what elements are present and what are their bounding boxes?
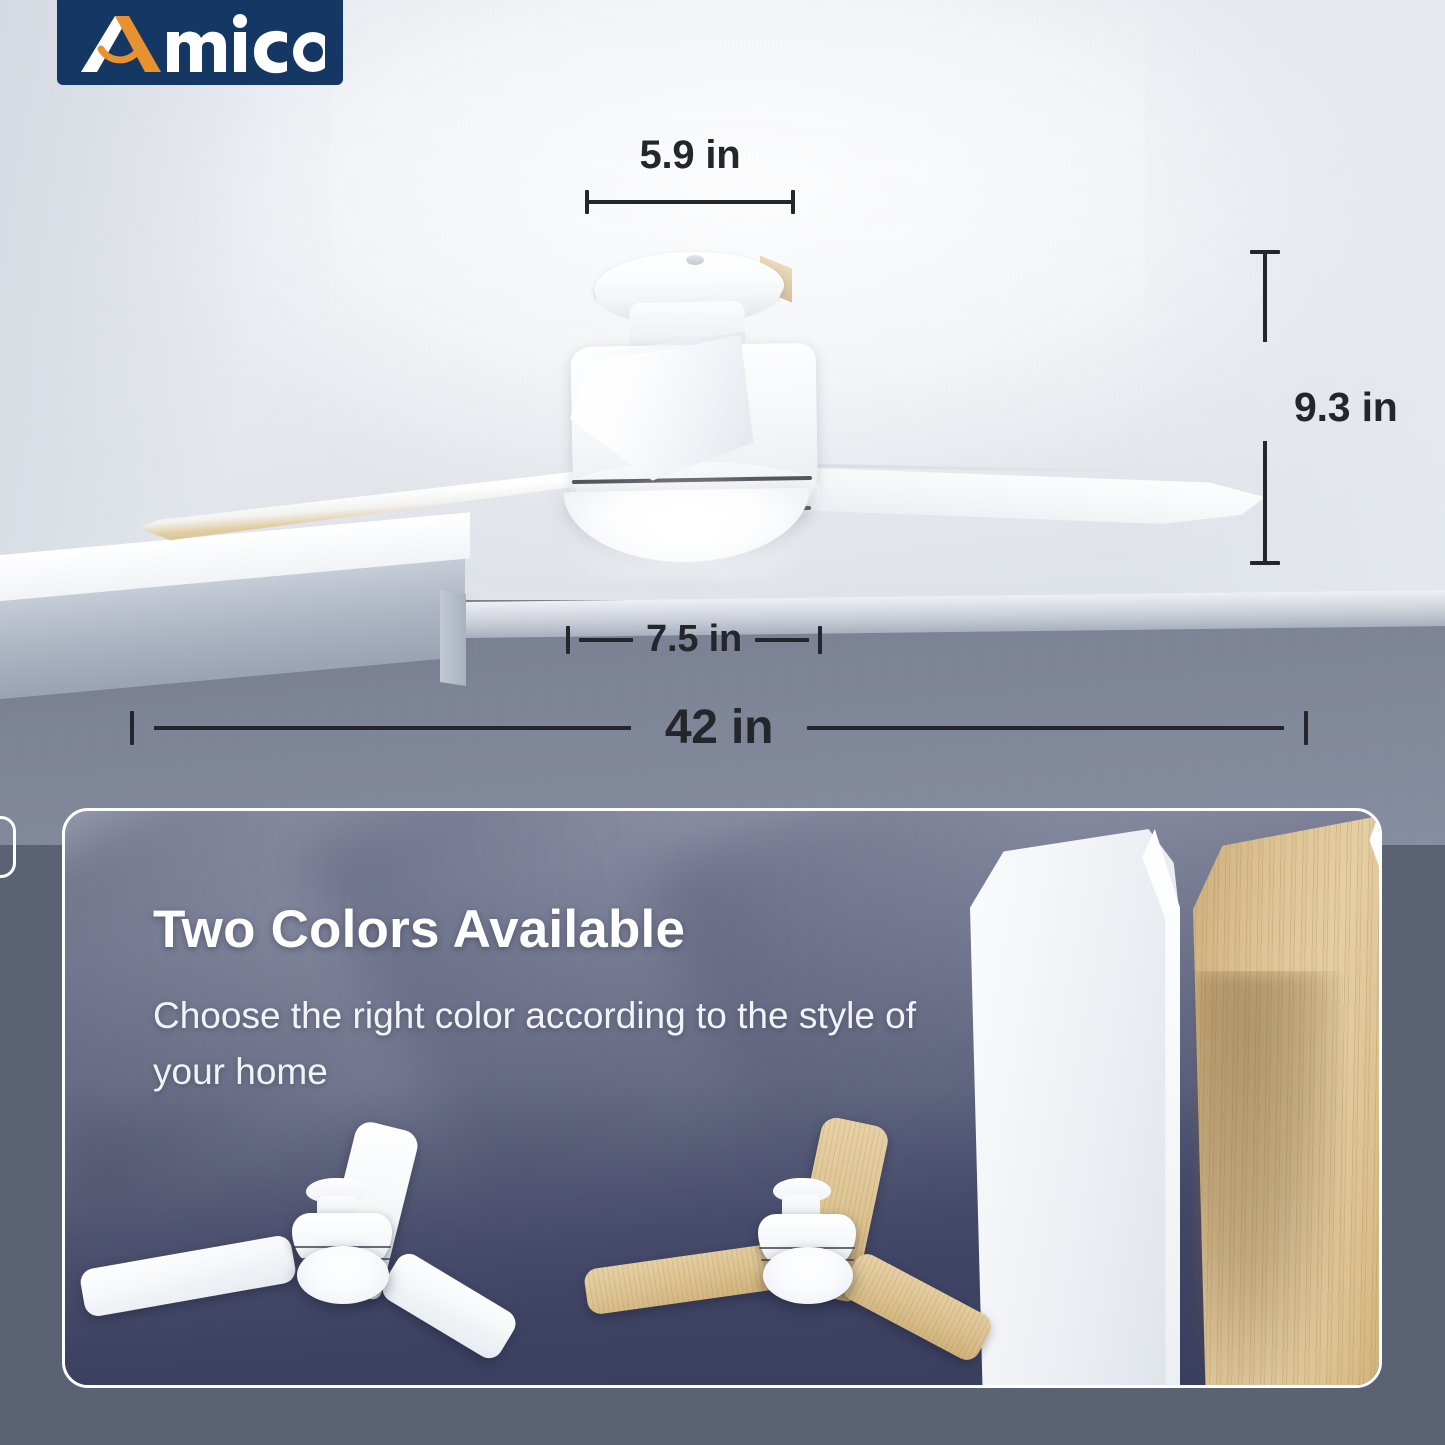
dimension-rule-left xyxy=(154,726,631,730)
dimension-tick-bottom xyxy=(1250,561,1280,565)
dimension-tick-right xyxy=(1304,711,1308,745)
fan-led-light xyxy=(297,1246,389,1304)
dimension-rule-lower xyxy=(1263,441,1267,561)
fan-blade xyxy=(377,1249,520,1364)
dimension-label-5-9: 5.9 in xyxy=(585,133,795,178)
dimension-blade-span: 42 in xyxy=(130,700,1308,755)
dimension-tick-left xyxy=(130,711,134,745)
panel-subheading: Choose the right color according to the … xyxy=(153,988,973,1100)
dimension-width-canopy: 5.9 in xyxy=(585,133,795,214)
dimension-line-9-3 xyxy=(1236,250,1294,565)
fan-blade xyxy=(838,1249,996,1365)
dimension-label-42: 42 in xyxy=(651,700,787,755)
dimension-rule-right xyxy=(807,726,1284,730)
dimension-line-5-9 xyxy=(585,190,795,214)
fan-light-glow xyxy=(560,470,816,580)
dimension-tick-right xyxy=(818,626,822,654)
fan-led-light xyxy=(763,1247,853,1304)
amico-logo-icon xyxy=(75,12,325,74)
wood-ceiling-fan xyxy=(645,1116,1045,1371)
dimension-height-total: 9.3 in xyxy=(1236,250,1426,565)
fan-blade-right xyxy=(800,450,1266,537)
dimension-rule xyxy=(589,200,791,204)
dimension-tick-right xyxy=(791,190,795,214)
dimension-rule-left xyxy=(579,638,633,642)
dimension-label-7-5: 7.5 in xyxy=(642,618,746,661)
wood-blade-swatch-shadow xyxy=(1193,971,1343,1388)
ceiling-fan-product xyxy=(0,0,1445,640)
fan-blade-right-body xyxy=(800,450,1266,537)
dimension-depth-housing: 7.5 in xyxy=(566,618,822,661)
brand-logo xyxy=(57,0,343,85)
dimension-label-9-3: 9.3 in xyxy=(1294,384,1398,431)
panel-left-edge-fragment xyxy=(0,816,16,878)
white-ceiling-fan xyxy=(125,1116,525,1371)
panel-heading: Two Colors Available xyxy=(153,899,973,960)
dimension-tick-left xyxy=(566,626,570,654)
panel-text-block: Two Colors Available Choose the right co… xyxy=(153,899,973,1100)
dimension-rule-right xyxy=(755,638,809,642)
dimension-rule-upper xyxy=(1263,254,1267,342)
fan-canopy-screw xyxy=(686,255,704,265)
two-colors-panel: Two Colors Available Choose the right co… xyxy=(62,808,1382,1388)
